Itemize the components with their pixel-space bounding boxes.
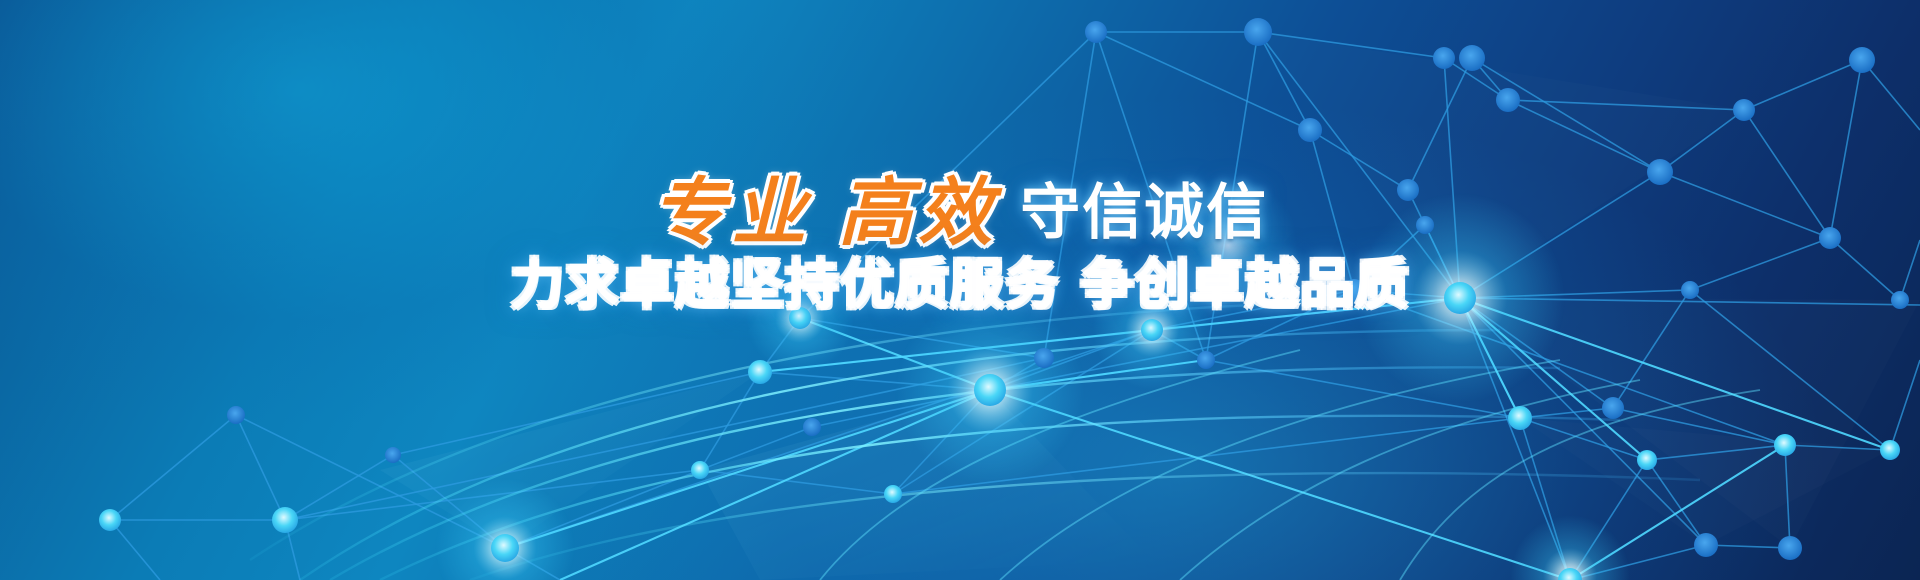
network-mesh-graphic <box>0 0 1920 580</box>
hero-banner: 专业 高效守信诚信 力求卓越坚持优质服务争创卓越品质 <box>0 0 1920 580</box>
